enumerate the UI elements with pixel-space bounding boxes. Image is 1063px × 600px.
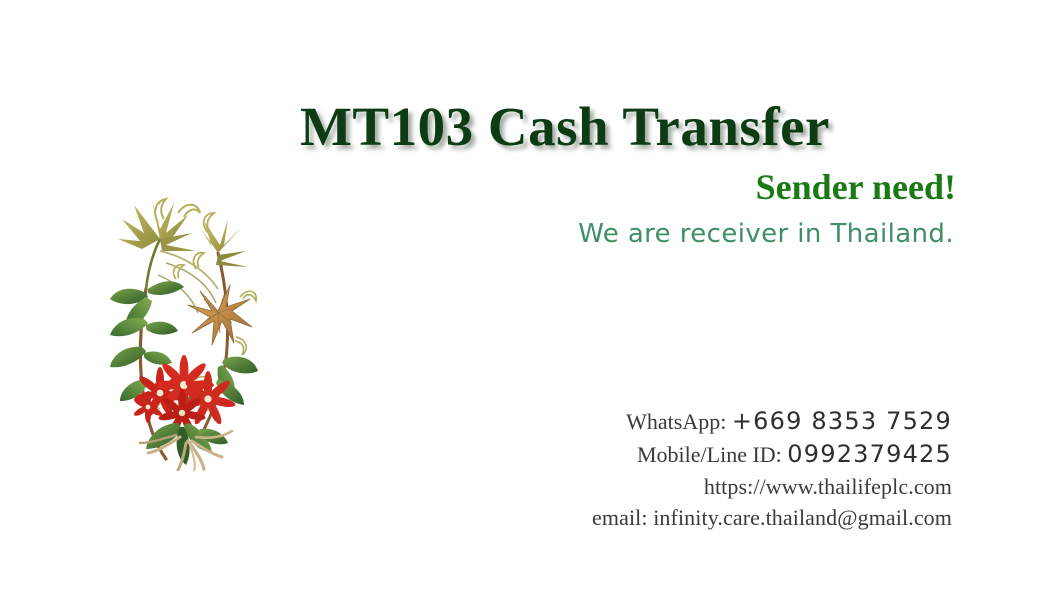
email-address[interactable]: infinity.care.thailand@gmail.com <box>653 505 952 530</box>
contact-block: WhatsApp: +669 8353 7529 Mobile/Line ID:… <box>520 405 952 533</box>
whatsapp-number[interactable]: +669 8353 7529 <box>732 407 952 435</box>
page-title: MT103 Cash Transfer <box>300 96 960 158</box>
headline-tagline: We are receiver in Thailand. <box>300 218 960 250</box>
mobile-label: Mobile/Line ID: <box>637 442 782 467</box>
email-label: email: <box>592 505 648 530</box>
whatsapp-label: WhatsApp: <box>626 409 726 434</box>
headline-block: MT103 Cash Transfer Sender need! We are … <box>300 96 960 250</box>
whatsapp-line: WhatsApp: +669 8353 7529 <box>520 405 952 438</box>
mobile-number[interactable]: 0992379425 <box>787 440 952 468</box>
email-line: email: infinity.care.thailand@gmail.com <box>520 502 952 533</box>
mobile-line: Mobile/Line ID: 0992379425 <box>520 438 952 471</box>
illustration-body <box>110 199 258 471</box>
khaki-spike-cluster-right <box>200 213 248 267</box>
website-url[interactable]: https://www.thailifeplc.com <box>704 474 952 499</box>
floral-vine-wreath-illustration <box>100 193 260 471</box>
website-line: https://www.thailifeplc.com <box>520 471 952 502</box>
headline-subtitle: Sender need! <box>300 166 960 208</box>
autumn-star-leaf <box>188 285 256 355</box>
poster-canvas: MT103 Cash Transfer Sender need! We are … <box>0 0 1063 600</box>
